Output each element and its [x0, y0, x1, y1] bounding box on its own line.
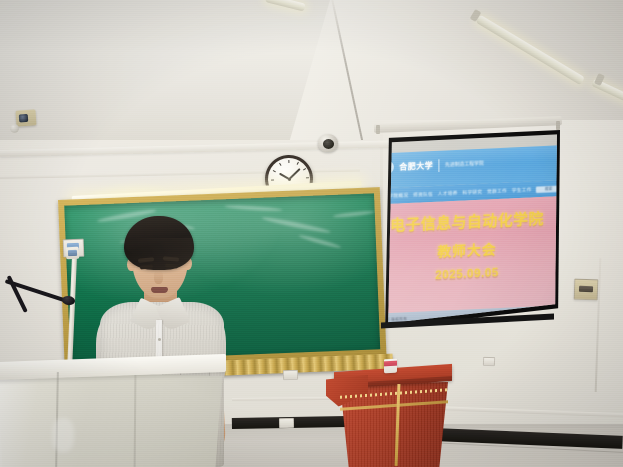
wall-junction-box[interactable] — [574, 279, 599, 301]
university-name-cn: 合肥大学 — [399, 160, 433, 173]
camera-lens-icon — [10, 124, 19, 133]
nav-item-2[interactable]: 师资队伍 — [413, 191, 433, 198]
red-lectern — [334, 362, 452, 467]
clock-center-pin — [287, 177, 290, 180]
security-camera-icon — [15, 109, 36, 126]
wall-outlet[interactable] — [279, 418, 294, 428]
hair-fringe — [126, 238, 192, 256]
wall-outlet[interactable] — [483, 357, 495, 366]
screen-mount — [376, 125, 380, 134]
slide-title-line1: 电子信息与自动化学院 — [374, 206, 560, 236]
projected-slide: 合肥大学 先进制造工程学院 首页 学院概况 师资队伍 人才培养 科学研究 党群工… — [374, 130, 560, 328]
shirt-button — [158, 338, 161, 341]
university-logo-row: 合肥大学 先进制造工程学院 — [380, 156, 484, 174]
wall-speaker-icon — [66, 247, 80, 260]
nav-item-5[interactable]: 党群工作 — [487, 188, 507, 195]
screen-mount — [556, 121, 560, 130]
institute-name: 先进制造工程学院 — [445, 160, 484, 168]
nav-item-1[interactable]: 学院概况 — [388, 192, 408, 199]
nav-item-3[interactable]: 人才培养 — [438, 190, 458, 197]
screen-surface: 合肥大学 先进制造工程学院 首页 学院概况 师资队伍 人才培养 科学研究 党群工… — [374, 130, 560, 328]
logo-divider — [439, 159, 440, 172]
teaching-desk — [0, 358, 234, 467]
paper-cup-band — [384, 361, 397, 367]
search-input[interactable]: 搜索 — [536, 185, 560, 193]
desk-front-panel — [0, 370, 222, 467]
lecture-hall-photo: 合肥大学 先进制造工程学院 首页 学院概况 师资队伍 人才培养 科学研究 党群工… — [0, 0, 623, 467]
eye-right — [165, 264, 178, 269]
university-crest-icon — [380, 160, 394, 174]
projection-screen[interactable]: 合肥大学 先进制造工程学院 首页 学院概况 师资队伍 人才培养 科学研究 党群工… — [374, 130, 560, 328]
slide-date: 2025.09.05 — [374, 264, 560, 286]
nose — [154, 270, 163, 284]
slide-title-line2: 教师大会 — [374, 235, 560, 264]
wall-outlet[interactable] — [283, 370, 298, 380]
slide-body: 电子信息与自动化学院 教师大会 2025.09.05 — [374, 196, 560, 314]
dome-camera-icon — [318, 134, 338, 152]
nav-item-0[interactable]: 首页 — [374, 193, 384, 200]
mouth — [151, 287, 168, 293]
desk-scuff — [52, 418, 74, 452]
nav-item-4[interactable]: 科学研究 — [462, 189, 482, 196]
nav-item-6[interactable]: 学生工作 — [512, 187, 532, 194]
